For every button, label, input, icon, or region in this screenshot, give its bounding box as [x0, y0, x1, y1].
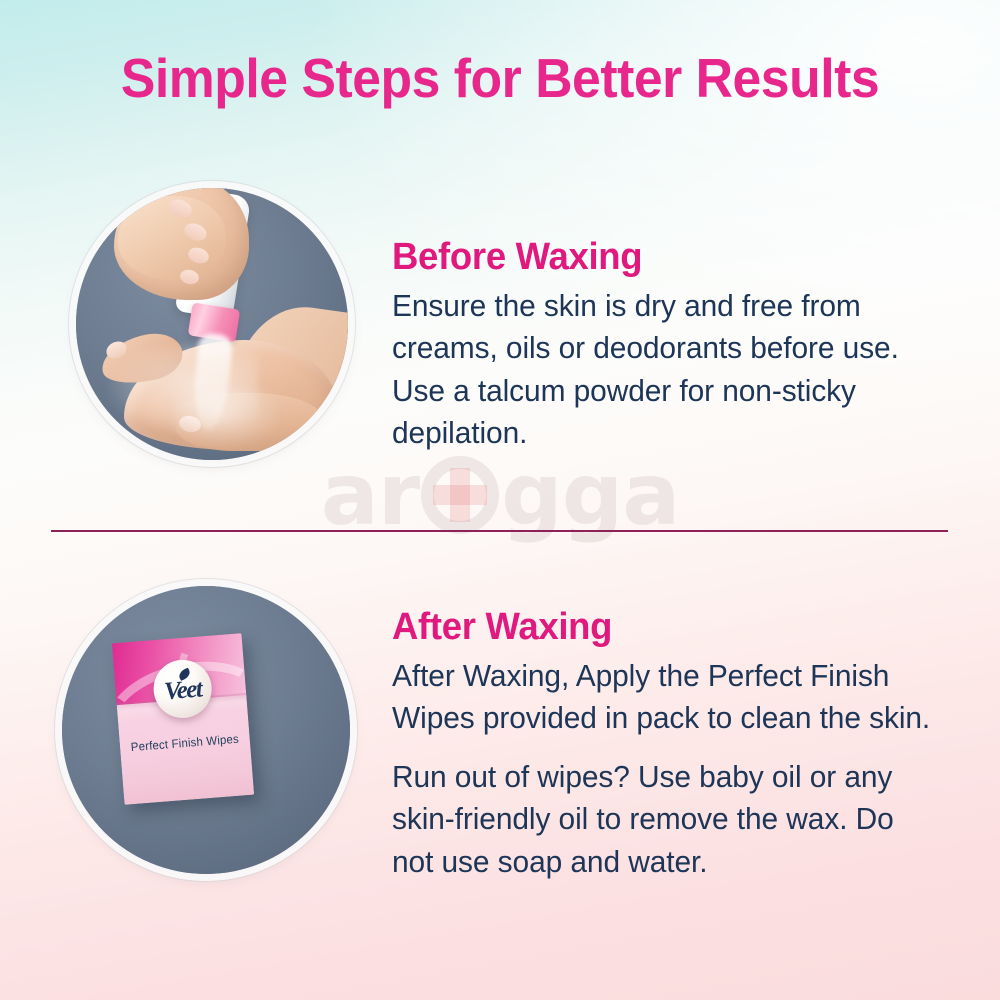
veet-brand-text: Veet: [163, 676, 202, 704]
after-waxing-text: After Waxing After Waxing, Apply the Per…: [392, 606, 958, 883]
before-waxing-image: [76, 188, 348, 460]
before-waxing-paragraph-1: Ensure the skin is dry and free from cre…: [392, 285, 938, 455]
after-waxing-heading: After Waxing: [392, 606, 935, 649]
after-waxing-paragraph-1: After Waxing, Apply the Perfect Finish W…: [392, 655, 938, 740]
talcum-powder-bottle-icon: [76, 188, 348, 460]
poster-root: ar gga Simple Steps for Better Results: [0, 0, 1000, 1000]
after-waxing-paragraph-2: Run out of wipes? Use baby oil or any sk…: [392, 756, 938, 883]
veet-wipes-sachet-icon: Veet Perfect Finish Wipes: [62, 586, 350, 874]
after-waxing-image: Veet Perfect Finish Wipes: [62, 586, 350, 874]
page-title: Simple Steps for Better Results: [30, 46, 970, 110]
before-waxing-heading: Before Waxing: [392, 236, 935, 279]
before-waxing-text: Before Waxing Ensure the skin is dry and…: [392, 236, 958, 455]
section-divider: [51, 530, 948, 532]
